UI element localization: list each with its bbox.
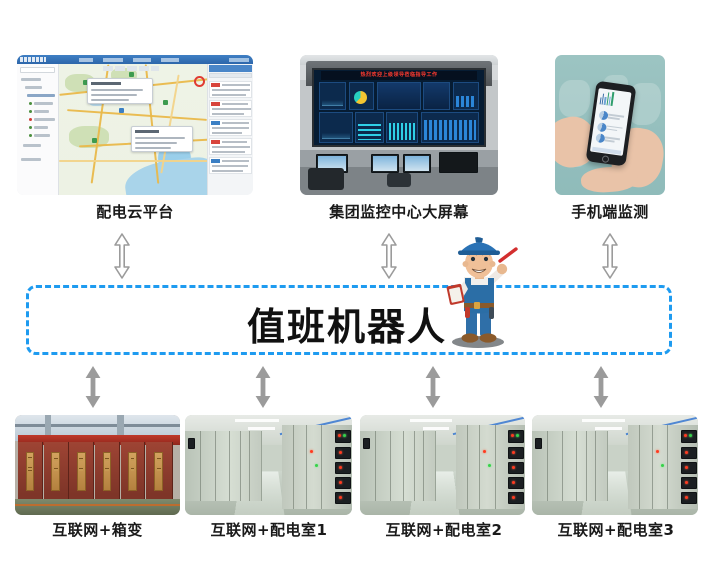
cabinet-seam [375,431,376,501]
tree-status-dot [29,110,32,113]
caption-distribution-cloud-platform: 配电云平台 [17,201,253,222]
popup-line [135,147,171,149]
popup-line [135,142,177,144]
alarm-line [212,151,245,153]
webapp-menu-item[interactable] [79,58,93,62]
caption-switchgear-room-1: 互联网+配电室1 [180,519,358,540]
thumbnail-switchgear-room-2[interactable] [360,415,525,515]
cabinet-door-panel [77,452,86,491]
alarm-card[interactable] [209,138,252,155]
cabinet-seam [479,425,480,509]
connector-arrow-mobile [600,232,620,280]
map-canvas[interactable] [59,64,207,195]
dashboard-tile-kpi [453,82,479,110]
indicator-led [689,434,692,437]
tree-status-dot [29,134,32,137]
indicator-led [512,466,515,469]
thumbnail-distribution-cloud-platform[interactable] [17,55,253,195]
center-node-title: 值班机器人 [247,296,447,351]
diagram-canvas: 配电云平台 热烈欢迎上级领导莅临指导工作 [0,0,701,581]
indicator-led [488,464,491,467]
alarm-line [212,165,248,167]
screen-text-line [606,128,617,131]
connector-arrow-control-center [379,232,399,280]
tree-row[interactable] [21,78,41,81]
left-cabinet-row [360,431,436,501]
tree-status-dot-alarm [29,118,32,121]
cabinet-meter-panel [681,492,696,504]
cabinet-meter-panel [188,438,195,449]
tree-search-input[interactable] [20,67,55,73]
ceiling-light [248,427,275,430]
alarm-card[interactable] [209,119,252,136]
cabinet-meter-panel [508,462,523,474]
thumbnail-mobile-monitoring[interactable] [555,55,665,195]
operator-desk-row [300,150,498,195]
cabinet-seam [390,431,391,501]
thumbnail-switchgear-room-1[interactable] [185,415,352,515]
map-marker[interactable] [129,72,134,77]
alarm-list-panel[interactable] [207,64,253,195]
popup-title [135,130,159,133]
connector-arrow-cloud-platform [112,232,132,280]
switch-cabinet [18,442,43,499]
webapp-logo-icon [20,57,46,62]
indicator-led [656,450,659,453]
map-info-popup[interactable] [131,126,193,152]
alarm-card[interactable] [209,81,252,98]
cabinet-meter-panel [508,447,523,459]
operator-chair [387,173,411,186]
cabinet-meter-panel [508,492,523,504]
cabinet-seam [200,431,201,501]
line-chart [322,93,343,106]
alarm-card[interactable] [209,157,252,174]
left-cabinet-row [532,431,608,501]
map-road [59,160,207,162]
webapp-menu-item[interactable] [161,58,179,62]
tree-status-dot [29,102,32,105]
cabinet-seam [229,431,230,501]
cabinet-seam [423,431,424,501]
engineer-worker-icon [434,237,526,349]
alarm-line [222,103,248,105]
phone-screen [590,88,632,156]
bar-chart [389,123,415,140]
tree-row[interactable] [34,118,55,121]
cabinet-door-panel [51,452,60,491]
thumbnail-switchgear-room-3[interactable] [532,415,698,515]
ceiling-light [595,427,622,430]
monitor-screen [373,156,397,171]
cabinet-meter-panel [335,462,350,474]
indicator-led [685,451,688,454]
indicator-led [339,451,342,454]
cabinet-meter-panel [535,438,542,449]
screen-text-line [608,117,621,120]
cabinet-meter-panel [681,447,696,459]
tree-row[interactable] [34,126,48,129]
popup-line [135,137,185,139]
screen-pie [599,110,609,120]
right-cabinet-row [628,425,698,509]
map-webapp-screenshot [17,55,253,195]
thumbnail-box-substation[interactable] [15,415,180,515]
popup-line [91,89,143,91]
map-marker[interactable] [163,100,168,105]
tree-row[interactable] [23,144,41,147]
cabinet-vent [157,458,161,461]
switch-cabinet [69,442,94,499]
tree-row[interactable] [25,86,42,89]
dashboard-grid [319,82,479,143]
cabinet-vent [105,468,109,471]
thumbnail-control-center[interactable]: 热烈欢迎上级领导莅临指导工作 [300,55,498,195]
cabinet-meter-panel [335,492,350,504]
dashboard-tile-linechart-2 [319,112,353,143]
right-cabinet-row [282,425,352,509]
cabinet-vent [79,468,83,471]
control-center-photo: 热烈欢迎上级领导莅临指导工作 [300,55,498,195]
cabinet-seam [576,431,577,501]
floor-marking-line [15,504,180,506]
dashboard-tile-center-graphic [377,82,422,110]
dashboard-tile-linechart [319,82,346,110]
tree-row[interactable] [34,102,53,105]
map-road [160,75,179,174]
dashboard-tile-barchart-wide [421,112,479,143]
monitor-screen [405,156,429,171]
cabinet-seam [586,431,587,501]
cabinet-vent [28,457,32,460]
alarm-panel-tabs[interactable] [209,73,252,78]
cabinet-meter-panel [508,430,523,443]
alarm-line [222,141,247,143]
alarm-line [212,113,244,115]
caption-control-center: 集团监控中心大屏幕 [290,201,508,222]
screen-pie [597,122,607,132]
dashboard-tile-barchart [386,112,418,143]
cabinet-seam [667,425,668,509]
screen-text-line [605,140,615,143]
indicator-led [483,450,486,453]
right-cabinet-row [456,425,525,509]
connector-arrow-room-3 [591,365,611,409]
alarm-line [222,122,249,124]
cabinet-meter-panel [508,477,523,489]
indicator-led [512,496,515,499]
tree-row[interactable] [34,110,49,113]
alarm-badge [211,83,220,87]
indicator-led [310,450,313,453]
led-video-wall: 热烈欢迎上级领导莅临指导工作 [312,68,486,148]
alarm-line [212,89,250,91]
dashboard-tile-graphic [423,82,450,110]
indicator-led [343,434,346,437]
indicator-led [661,464,664,467]
mobile-monitoring-photo [555,55,665,195]
tree-row-selected[interactable] [27,94,55,97]
alarm-card[interactable] [209,100,252,117]
cabinet-seam [321,425,322,509]
home-button-icon [602,155,610,163]
webapp-menu-item[interactable] [103,58,123,62]
bar-chart [424,120,476,140]
cabinet-vent [79,458,83,461]
popup-title [91,82,121,85]
tree-row[interactable] [21,158,41,161]
screen-bar [611,92,614,106]
cabinet-seam [562,431,563,501]
cabinet-meter-panel [363,438,370,449]
cabinet-seam [639,425,640,509]
cabinet-seam [414,431,415,501]
operator-chair [308,168,344,190]
ceiling-light [235,419,278,422]
cabinet-door-panel [128,452,137,491]
cabinet-vent [54,468,58,471]
cabinet-seam [293,425,294,509]
cabinet-seam [652,425,653,509]
cabinet-vent [131,458,135,461]
alarm-panel-header [209,65,252,72]
cabinet-door-panel [154,452,163,491]
webapp-titlebar [17,55,253,64]
tree-status-dot [29,126,32,129]
workshop-floor [15,499,180,515]
cabinet-seam [403,431,404,501]
dashboard-tile-pie [349,82,375,110]
switch-cabinet [44,442,69,499]
caption-switchgear-room-3: 互联网+配电室3 [527,519,701,540]
tree-row[interactable] [34,134,50,137]
cabinet-seam [306,425,307,509]
alarm-badge [211,121,220,125]
map-info-popup[interactable] [87,78,153,104]
connector-arrow-box-substation [83,365,103,409]
indicator-led [684,434,687,437]
cabinet-vent [157,468,161,471]
ceiling-light [410,419,453,422]
cabinet-meter-panel [335,447,350,459]
caption-switchgear-room-2: 互联网+配电室2 [355,519,533,540]
cabinet-vent [131,468,135,471]
indicator-led [685,496,688,499]
left-cabinet-row [185,431,262,501]
cabinet-seam [595,431,596,501]
connector-arrow-room-2 [423,365,443,409]
alarm-line [212,94,246,96]
map-red-circle-highlight [194,76,205,87]
map-road [67,109,207,121]
map-marker[interactable] [119,108,124,113]
cabinet-meter-panel [681,430,696,443]
pie-chart [354,91,367,104]
cabinet-meter-panel [681,477,696,489]
screen-footer-bar [592,147,622,155]
alarm-line [212,146,250,148]
switchgear-room-photo [185,415,352,515]
webapp-tree-sidebar[interactable] [17,64,59,195]
indicator-led [512,451,515,454]
alarm-badge [211,102,220,106]
switch-cabinet [95,442,120,499]
indicator-led [511,434,514,437]
cabinet-vent [28,467,32,470]
popup-line [91,94,137,96]
webapp-menu-item[interactable] [133,58,151,62]
ceiling-light [582,419,625,422]
switchgear-room-photo [360,415,525,515]
alarm-line [212,170,243,172]
indicator-led [339,481,342,484]
line-chart [322,125,350,139]
alarm-line [212,127,249,129]
cabinet-seam [215,431,216,501]
caption-box-substation: 互联网+箱变 [10,519,185,540]
alarm-badge [211,140,220,144]
switchgear-room-photo [532,415,698,515]
caption-mobile-monitoring: 手机端监测 [545,201,675,222]
operator-monitor [403,154,431,173]
cabinet-vent [105,458,109,461]
indicator-led [512,481,515,484]
cabinet-meter-panel [335,477,350,489]
roof-beam [15,424,180,427]
webapp-user-menu[interactable] [229,58,249,62]
cabinet-door-panel [26,452,35,491]
cabinet-seam [547,431,548,501]
dashboard-tile-list [355,112,384,143]
alarm-line [212,108,251,110]
operator-monitor-off [439,152,479,174]
switch-cabinet [146,442,172,499]
indicator-led [516,434,519,437]
cabinet-seam [249,431,250,501]
popup-line [91,99,129,101]
cabinet-seam [240,431,241,501]
indicator-led [315,464,318,467]
cabinet-door-panel [103,452,112,491]
alarm-badge [211,159,220,163]
map-toolbar-buttons[interactable] [103,66,159,71]
indicator-led [339,496,342,499]
indicator-led [338,434,341,437]
continent-shape [559,80,590,116]
cabinet-meter-panel [335,430,350,443]
cabinet-vent [54,458,58,461]
list-rows [358,124,381,140]
alarm-line [222,160,249,162]
kpi-rows [456,96,476,106]
operator-monitor [371,154,399,173]
indicator-led [685,466,688,469]
screen-pie [596,133,606,143]
alarm-line [212,132,242,134]
alarm-line [222,84,250,86]
cabinet-seam [495,425,496,509]
indicator-led [685,481,688,484]
webapp-body [17,64,253,195]
connector-arrow-room-1 [253,365,273,409]
ceiling-light [423,427,449,430]
switch-cabinet [121,442,146,499]
cabinet-seam [467,425,468,509]
box-substation-photo [15,415,180,515]
cabinet-meter-panel [681,462,696,474]
map-marker[interactable] [92,138,97,143]
bigscreen-title: 热烈欢迎上级领导莅临指导工作 [321,71,478,80]
indicator-led [339,466,342,469]
